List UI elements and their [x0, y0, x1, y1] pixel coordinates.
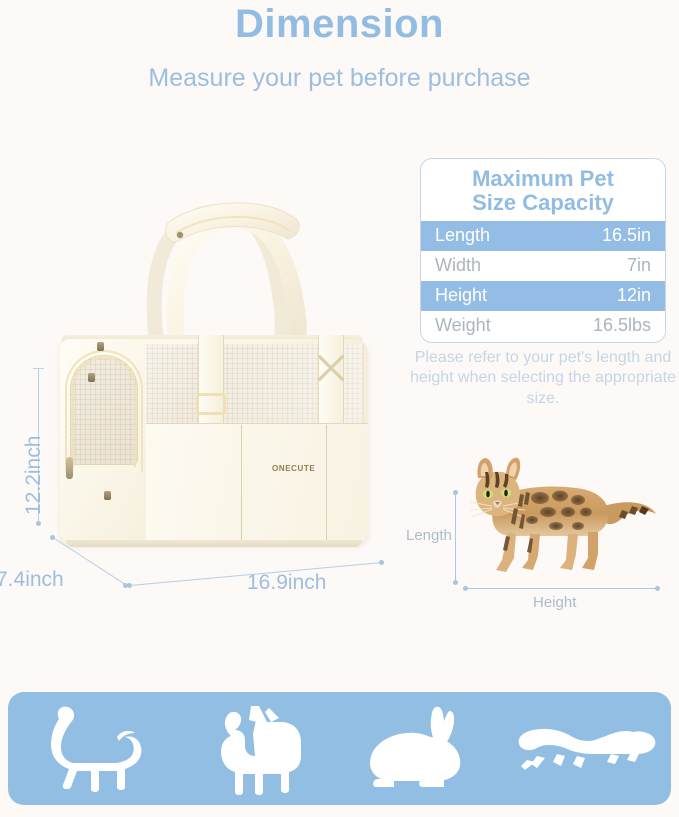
spec-table-heading: Maximum Pet Size Capacity: [421, 159, 665, 221]
strap-x-stitch: [318, 355, 344, 381]
infographic-page: Dimension Measure your pet before purcha…: [0, 0, 679, 817]
max-pet-size-table: Maximum Pet Size Capacity Length 16.5in …: [420, 158, 666, 343]
metal-stud-icon: [104, 491, 111, 500]
width-guide-end-dot: [379, 560, 384, 565]
spec-heading-line-1: Maximum Pet: [431, 167, 655, 191]
pet-length-bottom-dot: [453, 580, 458, 585]
spec-label-width: Width: [435, 255, 481, 276]
zipper-pull-icon: [66, 457, 73, 479]
spec-table-note: Please refer to your pet's length and he…: [410, 348, 676, 409]
spec-row-length: Length 16.5in: [421, 221, 665, 251]
pocket-seam: [241, 425, 242, 543]
pet-height-guide-line: [465, 588, 658, 589]
rabbit-silhouette-icon: [352, 701, 492, 797]
banner-cell-rabbit: [340, 701, 506, 797]
spec-row-width: Width 7in: [421, 251, 665, 281]
depth-guide-start-dot: [50, 535, 55, 540]
spec-label-weight: Weight: [435, 315, 491, 336]
width-guide-start-dot: [127, 583, 132, 588]
spec-value-height: 12in: [617, 285, 651, 306]
spec-label-length: Length: [435, 225, 490, 246]
metal-stud-icon: [88, 373, 95, 382]
cat-silhouette-icon: [21, 703, 161, 795]
dog-silhouette-icon: [187, 700, 327, 798]
d-ring-icon: [196, 393, 226, 415]
supported-pets-banner: [8, 692, 671, 805]
brand-label: ONECUTE: [272, 464, 315, 473]
pocket-seam: [326, 425, 327, 543]
carrier-body: ONECUTE: [36, 335, 384, 550]
spec-row-height: Height 12in: [421, 281, 665, 311]
spec-value-weight: 16.5lbs: [593, 315, 651, 336]
bag-depth-label: 7.4inch: [0, 568, 64, 592]
banner-cell-dog: [174, 700, 340, 798]
banner-cell-lizard: [505, 712, 671, 786]
bengal-cat-illustration: [436, 448, 662, 580]
spec-row-weight: Weight 16.5lbs: [421, 311, 665, 341]
bag-width-label: 16.9inch: [247, 571, 326, 595]
banner-cell-cat: [8, 703, 174, 795]
pet-reference-photo: [436, 448, 662, 580]
pet-length-top-dot: [453, 490, 458, 495]
spec-value-width: 7in: [627, 255, 651, 276]
handle-strap-right: [318, 335, 344, 427]
carrier-base: [66, 540, 362, 547]
pet-length-label: Length: [406, 527, 452, 544]
pet-height-label: Height: [533, 594, 576, 611]
spec-heading-line-2: Size Capacity: [431, 191, 655, 215]
pet-height-right-dot: [655, 586, 660, 591]
pet-carrier-illustration: ONECUTE: [30, 165, 395, 565]
pet-height-left-dot: [463, 586, 468, 591]
page-subtitle: Measure your pet before purchase: [0, 64, 679, 93]
height-guide-bottom-dot: [36, 521, 41, 526]
bag-height-label: 12.2inch: [22, 436, 46, 515]
spec-value-length: 16.5in: [602, 225, 651, 246]
lizard-silhouette-icon: [515, 712, 661, 786]
pet-length-guide-line: [455, 492, 456, 582]
height-guide-top-tick: [33, 368, 44, 369]
spec-label-height: Height: [435, 285, 487, 306]
side-zipper-inner: [72, 357, 136, 467]
metal-stud-icon: [97, 342, 104, 351]
page-title: Dimension: [0, 2, 679, 47]
